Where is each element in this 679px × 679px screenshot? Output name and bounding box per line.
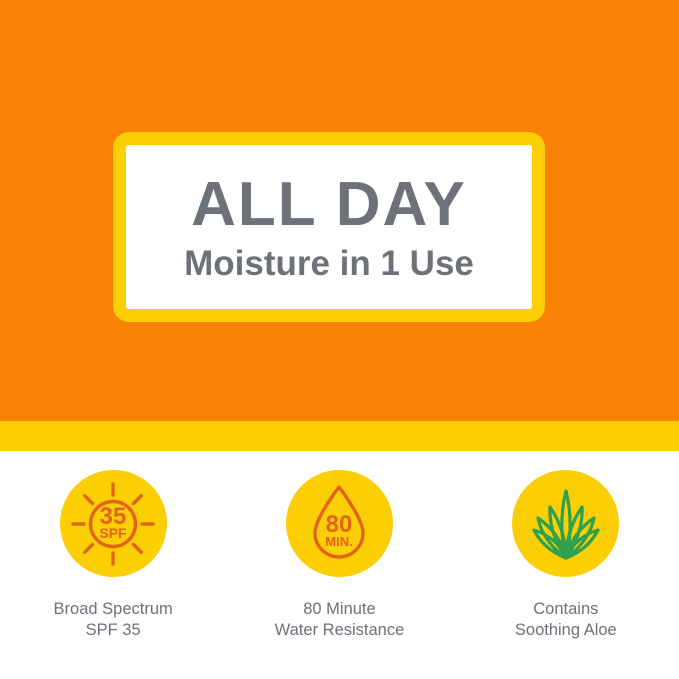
drop-icon-unit: MIN. bbox=[326, 534, 353, 549]
headline-badge: ALL DAY Moisture in 1 Use bbox=[113, 132, 545, 322]
feature-icon-circle bbox=[512, 470, 619, 577]
headline-text: ALL DAY bbox=[191, 174, 467, 236]
yellow-divider-band bbox=[0, 421, 679, 451]
feature-item-spf: 35 SPF Broad Spectrum SPF 35 bbox=[13, 470, 213, 641]
feature-caption: Contains Soothing Aloe bbox=[515, 599, 617, 641]
feature-item-water-resistance: 80 MIN. 80 Minute Water Resistance bbox=[239, 470, 439, 641]
sun-spf-icon: 35 SPF bbox=[67, 478, 159, 570]
feature-icon-circle: 80 MIN. bbox=[286, 470, 393, 577]
subheadline-text: Moisture in 1 Use bbox=[184, 246, 474, 281]
feature-caption: Broad Spectrum SPF 35 bbox=[54, 599, 173, 641]
water-drop-icon: 80 MIN. bbox=[293, 478, 385, 570]
aloe-plant-icon bbox=[520, 478, 612, 570]
feature-list: 35 SPF Broad Spectrum SPF 35 80 MIN. 80 … bbox=[0, 470, 679, 641]
feature-caption: 80 Minute Water Resistance bbox=[275, 599, 405, 641]
sunscreen-feature-poster: ALL DAY Moisture in 1 Use bbox=[0, 0, 679, 679]
headline-badge-inner: ALL DAY Moisture in 1 Use bbox=[126, 145, 532, 309]
feature-item-aloe: Contains Soothing Aloe bbox=[466, 470, 666, 641]
sun-icon-unit: SPF bbox=[100, 525, 128, 541]
feature-icon-circle: 35 SPF bbox=[60, 470, 167, 577]
